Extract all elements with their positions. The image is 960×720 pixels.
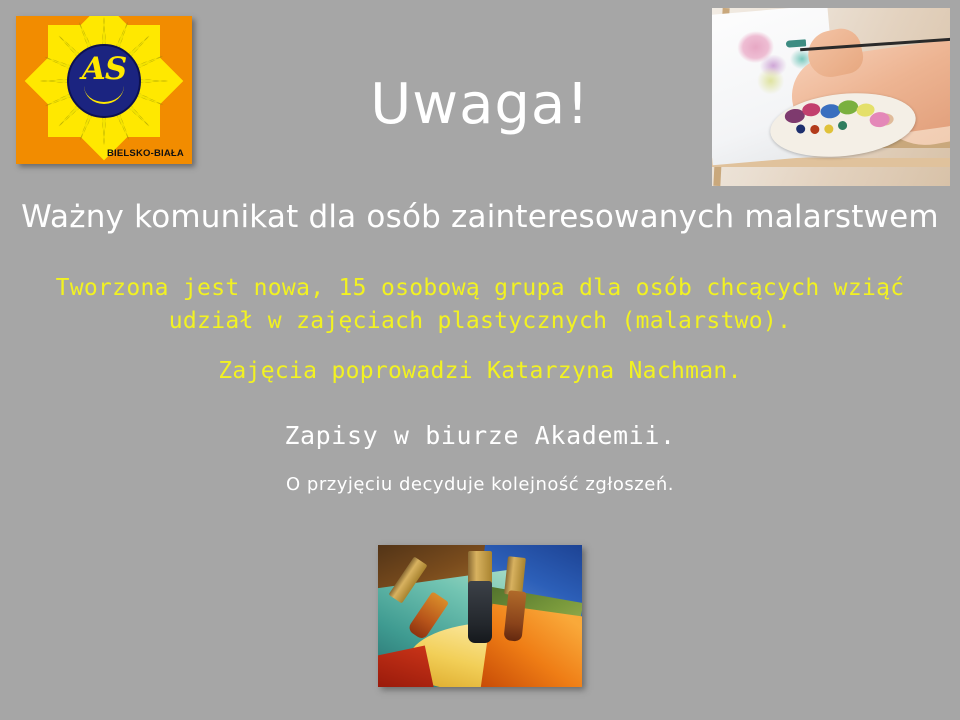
paintbrush-ferrule [468,551,492,585]
paintbrush-bristles [468,581,492,643]
logo-smile-icon [84,86,124,104]
paint-smear-orange [481,604,582,687]
page-subtitle: Ważny komunikat dla osób zainteresowanyc… [0,200,960,234]
logo-disc: AS [67,44,141,118]
paint-brushes-photo [378,545,582,687]
note-line: O przyjęciu decyduje kolejność zgłoszeń. [0,474,960,495]
page-title: Uwaga! [0,76,960,135]
logo-city-label: BIELSKO-BIAŁA [107,148,184,159]
logo-monogram: AS [69,54,139,85]
signup-line: Zapisy w biurze Akademii. [0,421,960,450]
paintbrush-tip-icon [786,39,806,47]
body-paragraph: Tworzona jest nowa, 15 osobową grupa dla… [26,272,934,339]
presenter-line: Zajęcia poprowadzi Katarzyna Nachman. [0,358,960,384]
slide-canvas: AS BIELSKO-BIAŁA [0,0,960,720]
